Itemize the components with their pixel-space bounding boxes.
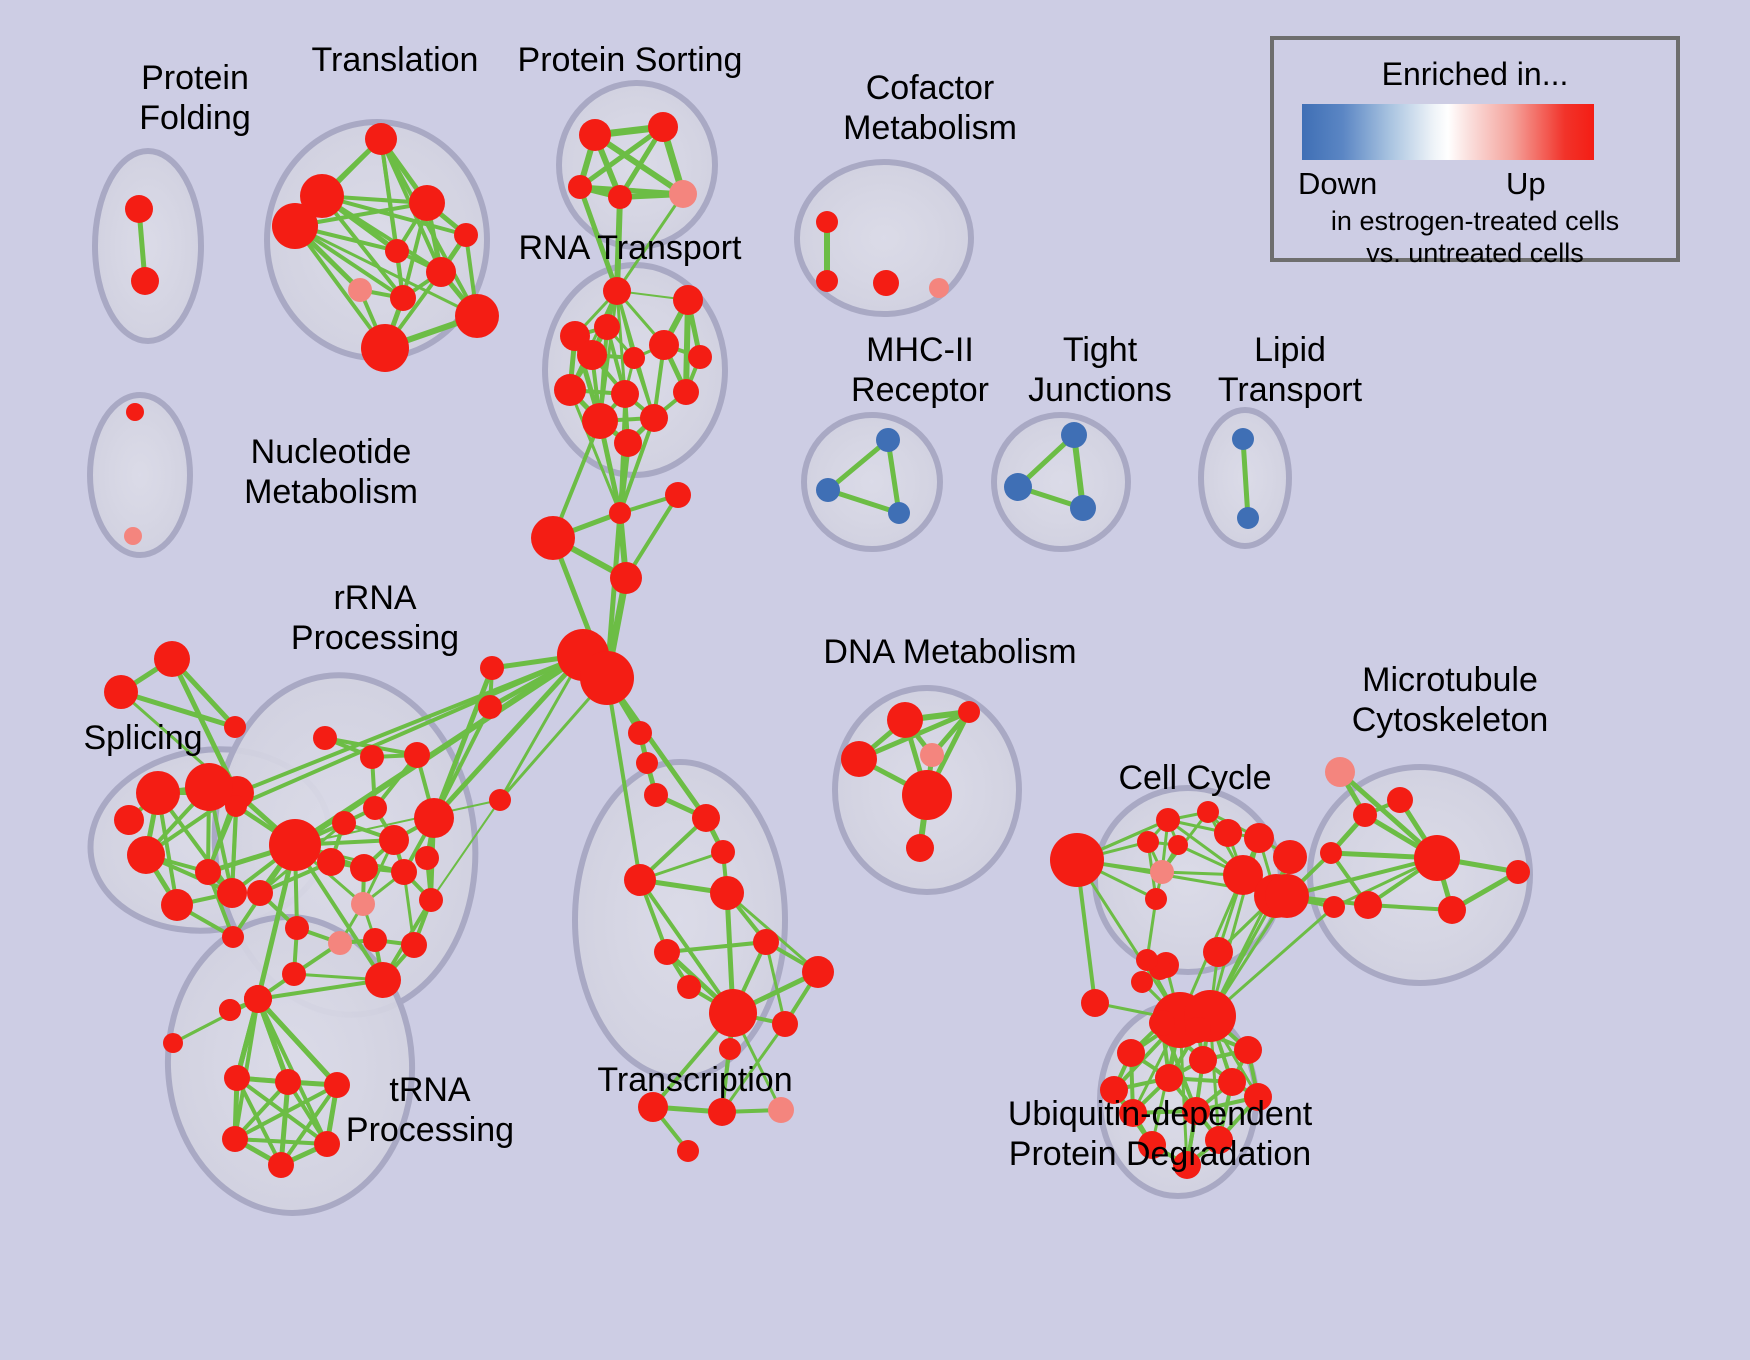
gene-set-node-trna-processing-6[interactable] — [314, 1131, 340, 1157]
gene-set-node-trna-processing-4[interactable] — [324, 1072, 350, 1098]
gene-set-node-ubiquitin-degradation-7[interactable] — [1218, 1068, 1246, 1096]
gene-set-node-c5[interactable] — [580, 651, 634, 705]
gene-set-node-lipid-transport-0[interactable] — [1232, 428, 1254, 450]
gene-set-node-dna-metabolism-0[interactable] — [887, 702, 923, 738]
gene-set-node-mhc-ii-receptor-0[interactable] — [876, 428, 900, 452]
gene-set-node-cell-cycle-6[interactable] — [1273, 840, 1307, 874]
gene-set-node-cell-cycle-10[interactable] — [1145, 888, 1167, 910]
gene-set-node-rrna-processing-4[interactable] — [332, 811, 356, 835]
gene-set-node-tight-junctions-1[interactable] — [1004, 473, 1032, 501]
gene-set-node-ubiquitin-degradation-10[interactable] — [1182, 1097, 1210, 1125]
gene-set-node-protein-folding-1[interactable] — [131, 267, 159, 295]
cluster-hull-protein-folding[interactable] — [95, 151, 201, 341]
gene-set-node-tight-junctions-2[interactable] — [1070, 495, 1096, 521]
gene-set-node-microtubule-cytoskeleton-2[interactable] — [1353, 803, 1377, 827]
gene-set-node-tight-junctions-0[interactable] — [1061, 422, 1087, 448]
gene-set-node-transcription-3[interactable] — [710, 876, 744, 910]
legend-box: Enriched in... Down Up in estrogen-treat… — [1270, 36, 1680, 262]
gene-set-node-rna-transport-13[interactable] — [614, 429, 642, 457]
gene-set-node-splicing-10[interactable] — [222, 926, 244, 948]
gene-set-node-cofactor-metabolism-0[interactable] — [816, 211, 838, 233]
gene-set-node-c0[interactable] — [609, 502, 631, 524]
gene-set-node-rna-transport-1[interactable] — [673, 285, 703, 315]
gene-set-node-translation-4[interactable] — [454, 223, 478, 247]
gene-set-node-splicing-9[interactable] — [217, 878, 247, 908]
gene-set-node-translation-9[interactable] — [455, 294, 499, 338]
legend-up-label: Up — [1506, 166, 1546, 202]
gene-set-node-cell-cycle-9[interactable] — [1150, 860, 1174, 884]
gene-set-node-microtubule-cytoskeleton-0[interactable] — [1325, 757, 1355, 787]
gene-set-node-cofactor-metabolism-1[interactable] — [816, 270, 838, 292]
gene-set-node-transcription-9[interactable] — [772, 1011, 798, 1037]
gene-set-node-translation-6[interactable] — [426, 257, 456, 287]
gene-set-node-rrna-processing-9[interactable] — [391, 859, 417, 885]
gene-set-node-c6[interactable] — [480, 656, 504, 680]
cluster-hull-microtubule-cytoskeleton[interactable] — [1310, 767, 1530, 983]
gene-set-node-c1[interactable] — [665, 482, 691, 508]
gene-set-node-rrna-processing-15[interactable] — [401, 932, 427, 958]
legend-title: Enriched in... — [1274, 56, 1676, 93]
gene-set-node-ubiquitin-degradation-12[interactable] — [1205, 1126, 1233, 1154]
gene-set-node-protein-sorting-2[interactable] — [568, 175, 592, 199]
gene-set-node-rrna-processing-18[interactable] — [247, 880, 273, 906]
gene-set-node-splicing-8[interactable] — [161, 889, 193, 921]
gene-set-node-ubiquitin-degradation-1[interactable] — [1185, 1017, 1211, 1043]
gene-set-node-splicing-12[interactable] — [224, 716, 246, 738]
gene-set-node-protein-folding-0[interactable] — [125, 195, 153, 223]
gene-set-node-transcription-8[interactable] — [709, 989, 757, 1037]
gene-set-node-rna-transport-2[interactable] — [594, 314, 620, 340]
gene-set-node-c2[interactable] — [531, 516, 575, 560]
gene-set-node-splicing-3[interactable] — [136, 771, 180, 815]
gene-set-node-trna-processing-8[interactable] — [163, 1033, 183, 1053]
gene-set-node-microtubule-cytoskeleton-8[interactable] — [1323, 896, 1345, 918]
gene-set-node-dna-metabolism-3[interactable] — [920, 743, 944, 767]
gene-set-node-cell-cycle-5[interactable] — [1244, 823, 1274, 853]
gene-set-node-trna-processing-5[interactable] — [222, 1126, 248, 1152]
gene-set-node-trna-processing-7[interactable] — [268, 1152, 294, 1178]
gene-set-node-trna-processing-2[interactable] — [224, 1065, 250, 1091]
gene-set-node-ubiquitin-degradation-8[interactable] — [1244, 1083, 1272, 1111]
gene-set-node-microtubule-cytoskeleton-5[interactable] — [1354, 891, 1382, 919]
gene-set-node-trna-processing-0[interactable] — [244, 985, 272, 1013]
gene-set-node-rna-transport-4[interactable] — [649, 330, 679, 360]
gene-set-node-rrna-processing-6[interactable] — [414, 798, 454, 838]
gene-set-node-ubiquitin-degradation-13[interactable] — [1173, 1151, 1201, 1179]
gene-set-node-translation-0[interactable] — [365, 123, 397, 155]
gene-set-node-dna-metabolism-5[interactable] — [906, 834, 934, 862]
gene-set-node-ubiquitin-degradation-9[interactable] — [1119, 1099, 1147, 1127]
gene-set-node-rrna-processing-8[interactable] — [350, 854, 378, 882]
gene-set-node-rna-transport-8[interactable] — [554, 374, 586, 406]
gene-set-node-translation-10[interactable] — [361, 324, 409, 372]
gene-set-node-ubiquitin-degradation-5[interactable] — [1100, 1076, 1128, 1104]
gene-set-node-translation-3[interactable] — [272, 203, 318, 249]
gene-set-node-cell-cycle-4[interactable] — [1214, 819, 1242, 847]
gene-set-node-rrna-processing-3[interactable] — [363, 796, 387, 820]
gene-set-node-rrna-processing-13[interactable] — [269, 819, 321, 871]
gene-set-node-c3[interactable] — [610, 562, 642, 594]
gene-set-node-microtubule-cytoskeleton-7[interactable] — [1506, 860, 1530, 884]
gene-set-node-splicing-1[interactable] — [104, 675, 138, 709]
gene-set-node-rrna-processing-0[interactable] — [313, 726, 337, 750]
gene-set-node-transcription-13[interactable] — [768, 1097, 794, 1123]
gene-set-node-rrna-processing-11[interactable] — [419, 888, 443, 912]
gene-set-node-protein-sorting-4[interactable] — [669, 180, 697, 208]
gene-set-node-ubiquitin-degradation-11[interactable] — [1138, 1131, 1166, 1159]
gene-set-node-ubiquitin-degradation-6[interactable] — [1155, 1064, 1183, 1092]
gene-set-node-transcription-1[interactable] — [624, 864, 656, 896]
gene-set-node-microtubule-cytoskeleton-4[interactable] — [1414, 835, 1460, 881]
gene-set-node-rna-transport-6[interactable] — [688, 345, 712, 369]
gene-set-node-splicing-0[interactable] — [154, 641, 190, 677]
gene-set-node-c8[interactable] — [628, 721, 652, 745]
gene-set-node-mhc-ii-receptor-1[interactable] — [816, 478, 840, 502]
gene-set-node-translation-7[interactable] — [348, 278, 372, 302]
gene-set-node-rna-transport-7[interactable] — [623, 347, 645, 369]
gene-set-node-cell-cycle-19[interactable] — [1131, 971, 1153, 993]
gene-set-node-protein-sorting-3[interactable] — [608, 185, 632, 209]
gene-set-node-cell-cycle-1[interactable] — [1197, 801, 1219, 823]
gene-set-node-cofactor-metabolism-3[interactable] — [929, 278, 949, 298]
gene-set-node-microtubule-cytoskeleton-1[interactable] — [1387, 787, 1413, 813]
gene-set-node-cell-cycle-3[interactable] — [1168, 835, 1188, 855]
gene-set-node-transcription-6[interactable] — [802, 956, 834, 988]
gene-set-node-c10[interactable] — [644, 783, 668, 807]
gene-set-node-c7[interactable] — [478, 695, 502, 719]
gene-set-node-transcription-5[interactable] — [753, 929, 779, 955]
legend-subtitle-line-2: vs. untreated cells — [1274, 238, 1676, 269]
gene-set-node-rrna-processing-21[interactable] — [365, 962, 401, 998]
gene-set-node-translation-5[interactable] — [385, 239, 409, 263]
gene-set-node-cell-cycle-18[interactable] — [1081, 989, 1109, 1017]
gene-set-node-cell-cycle-2[interactable] — [1137, 831, 1159, 853]
gene-set-node-rna-transport-11[interactable] — [582, 403, 618, 439]
gene-set-node-rna-transport-10[interactable] — [673, 379, 699, 405]
gene-set-node-dna-metabolism-2[interactable] — [841, 741, 877, 777]
gene-set-node-rrna-processing-10[interactable] — [415, 846, 439, 870]
network-figure: Protein FoldingTranslationProtein Sortin… — [0, 0, 1750, 1360]
gene-set-node-dna-metabolism-1[interactable] — [958, 701, 980, 723]
gene-set-node-ubiquitin-degradation-4[interactable] — [1234, 1036, 1262, 1064]
gene-set-node-mhc-ii-receptor-2[interactable] — [888, 502, 910, 524]
legend-subtitle-line-1: in estrogen-treated cells — [1274, 206, 1676, 237]
gene-set-node-rrna-processing-12[interactable] — [351, 892, 375, 916]
gene-set-node-cofactor-metabolism-2[interactable] — [873, 270, 899, 296]
gene-set-node-translation-8[interactable] — [390, 285, 416, 311]
gene-set-node-cell-cycle-13[interactable] — [1136, 949, 1158, 971]
gene-set-node-protein-sorting-1[interactable] — [648, 112, 678, 142]
gene-set-node-rna-transport-0[interactable] — [603, 277, 631, 305]
gene-set-node-rrna-processing-20[interactable] — [282, 962, 306, 986]
gene-set-node-c9[interactable] — [636, 752, 658, 774]
gene-set-node-rna-transport-5[interactable] — [577, 340, 607, 370]
gene-set-node-transcription-12[interactable] — [708, 1098, 736, 1126]
gene-set-node-transcription-11[interactable] — [638, 1092, 668, 1122]
gene-set-node-splicing-7[interactable] — [114, 805, 144, 835]
gene-set-node-nucleotide-metabolism-0[interactable] — [126, 403, 144, 421]
gene-set-node-dna-metabolism-4[interactable] — [902, 770, 952, 820]
gene-set-node-transcription-0[interactable] — [692, 804, 720, 832]
gene-set-node-rrna-processing-17[interactable] — [285, 916, 309, 940]
gene-set-node-cell-cycle-0[interactable] — [1156, 808, 1180, 832]
gene-set-node-ubiquitin-degradation-0[interactable] — [1149, 1010, 1175, 1036]
gene-set-node-cell-cycle-17[interactable] — [1050, 833, 1104, 887]
gene-set-node-transcription-14[interactable] — [677, 1140, 699, 1162]
gene-set-node-trna-processing-1[interactable] — [219, 999, 241, 1021]
legend-gradient-bar — [1302, 104, 1594, 160]
gene-set-node-rna-transport-12[interactable] — [640, 404, 668, 432]
gene-set-node-transcription-10[interactable] — [719, 1038, 741, 1060]
gene-set-node-splicing-6[interactable] — [127, 836, 165, 874]
gene-set-node-ubiquitin-degradation-3[interactable] — [1189, 1046, 1217, 1074]
gene-set-node-transcription-2[interactable] — [711, 840, 735, 864]
gene-set-node-translation-2[interactable] — [409, 185, 445, 221]
gene-set-node-rna-transport-9[interactable] — [611, 380, 639, 408]
gene-set-node-microtubule-cytoskeleton-6[interactable] — [1438, 896, 1466, 924]
gene-set-node-lipid-transport-1[interactable] — [1237, 507, 1259, 529]
gene-set-node-rrna-processing-1[interactable] — [360, 745, 384, 769]
gene-set-node-trna-processing-3[interactable] — [275, 1069, 301, 1095]
gene-set-node-ubiquitin-degradation-2[interactable] — [1117, 1039, 1145, 1067]
gene-set-node-rrna-processing-5[interactable] — [379, 825, 409, 855]
gene-set-node-microtubule-cytoskeleton-9[interactable] — [1265, 874, 1309, 918]
gene-set-node-rrna-processing-2[interactable] — [404, 742, 430, 768]
gene-set-node-rrna-processing-7[interactable] — [317, 848, 345, 876]
cluster-hull-transcription[interactable] — [575, 762, 785, 1078]
network-edge — [617, 197, 620, 291]
gene-set-node-nucleotide-metabolism-1[interactable] — [124, 527, 142, 545]
gene-set-node-transcription-4[interactable] — [654, 939, 680, 965]
legend-down-label: Down — [1298, 166, 1377, 202]
gene-set-node-rrna-processing-16[interactable] — [328, 931, 352, 955]
gene-set-node-microtubule-cytoskeleton-3[interactable] — [1320, 842, 1342, 864]
gene-set-node-protein-sorting-0[interactable] — [579, 119, 611, 151]
gene-set-node-rrna-processing-14[interactable] — [363, 928, 387, 952]
gene-set-node-c11[interactable] — [489, 789, 511, 811]
gene-set-node-splicing-5[interactable] — [195, 859, 221, 885]
gene-set-node-cell-cycle-14[interactable] — [1203, 937, 1233, 967]
gene-set-node-splicing-11[interactable] — [225, 795, 247, 817]
gene-set-node-transcription-7[interactable] — [677, 975, 701, 999]
